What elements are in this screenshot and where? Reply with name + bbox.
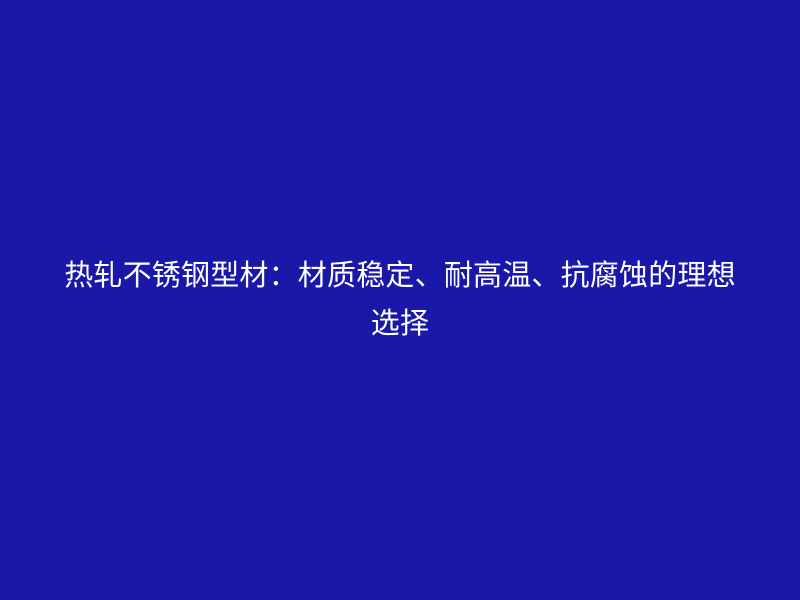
title-card: 热轧不锈钢型材：材质稳定、耐高温、抗腐蚀的理想选择	[0, 0, 800, 600]
page-title: 热轧不锈钢型材：材质稳定、耐高温、抗腐蚀的理想选择	[58, 252, 742, 348]
headline-container: 热轧不锈钢型材：材质稳定、耐高温、抗腐蚀的理想选择	[50, 252, 750, 348]
